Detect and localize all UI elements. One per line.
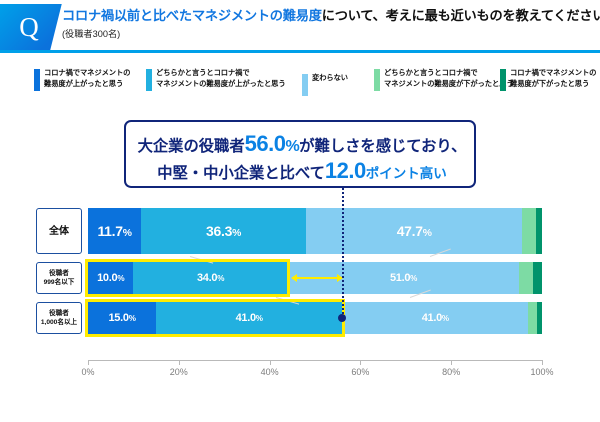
row-label-over-1000: 役職者 1,000名以上: [36, 302, 82, 334]
legend-item-0: コロナ禍でマネジメントの 難易度が上がったと思う: [34, 68, 144, 91]
x-axis-tick-label: 40%: [261, 367, 279, 377]
legend-swatch-icon: [302, 74, 308, 96]
bar-segment: 11.7%: [88, 208, 141, 254]
legend-item-2: 変わらない: [302, 73, 372, 96]
legend-swatch-icon: [500, 69, 506, 91]
page-subtitle: (役職者300名): [62, 27, 596, 41]
row-label-under-999: 役職者 999名以下: [36, 262, 82, 294]
callout-line-2: 中堅・中小企業と比べて12.0ポイント高い: [126, 158, 478, 184]
bar-segment-label: 15.0%: [108, 312, 135, 324]
x-axis-tick-label: 20%: [170, 367, 188, 377]
x-axis-tick-label: 100%: [530, 367, 553, 377]
legend-label: 変わらない: [312, 73, 348, 84]
callout-line1-pre: 大企業の役職者: [138, 138, 245, 155]
bar-segment: 41.0%: [156, 302, 342, 334]
bar-segment-label: 47.7%: [397, 223, 432, 239]
x-axis-tick: [542, 360, 543, 365]
bar-segment: 41.0%: [342, 302, 528, 334]
callout-value-56: 56.0%: [245, 131, 300, 156]
bar-segment: [528, 302, 537, 334]
row-label-text: 全体: [49, 227, 69, 236]
page-title: コロナ禍以前と比べたマネジメントの難易度について、考えに最も近いものを教えてくだ…: [62, 6, 596, 26]
callout-line2-unit: ポイント高い: [366, 166, 447, 181]
footer: EMPLOYMENT WITH TeamSpirit: [0, 392, 600, 422]
legend-item-4: コロナ禍でマネジメントの 難易度が下がったと思う: [500, 68, 600, 91]
callout-value-12: 12.0: [325, 158, 366, 183]
x-axis-tick: [360, 360, 361, 365]
survey-chart-page: Q コロナ禍以前と比べたマネジメントの難易度について、考えに最も近いものを教えて…: [0, 0, 600, 422]
legend-swatch-icon: [34, 69, 40, 91]
row-label-line1: 役職者: [44, 269, 75, 278]
bar-row-overall: 11.7% 36.3% 47.7%: [88, 208, 542, 254]
x-axis-tick: [179, 360, 180, 365]
bar-segment: 10.0%: [88, 262, 133, 294]
row-label-overall: 全体: [36, 208, 82, 254]
bar-segment-label: 36.3%: [206, 223, 241, 239]
bar-segment-label: 51.0%: [390, 272, 417, 284]
key-finding-callout: 大企業の役職者56.0%が難しさを感じており、 中堅・中小企業と比べて12.0ポ…: [124, 120, 476, 188]
marker-dotted-line: [342, 188, 344, 318]
row-label-line2: 999名以下: [44, 278, 75, 287]
x-axis-tick: [451, 360, 452, 365]
bar-segment: 34.0%: [133, 262, 287, 294]
callout-line1-post: が難しさを感じており、: [299, 138, 466, 155]
bar-segment-label: 34.0%: [197, 272, 224, 284]
legend-label: コロナ禍でマネジメントの 難易度が上がったと思う: [44, 68, 130, 89]
marker-dot-56: [338, 314, 346, 322]
legend-swatch-icon: [146, 69, 152, 91]
bar-segment: [519, 262, 533, 294]
bar-segment: 36.3%: [141, 208, 306, 254]
header-divider: [0, 50, 600, 53]
callout-line-1: 大企業の役職者56.0%が難しさを感じており、: [126, 131, 478, 157]
gap-arrow: [292, 277, 342, 279]
x-axis-tick: [88, 360, 89, 365]
x-axis-tick-label: 0%: [81, 367, 94, 377]
question-badge: Q: [14, 10, 44, 44]
row-label-line2: 1,000名以上: [41, 318, 77, 327]
bar-row-over-1000: 15.0% 41.0% 41.0%: [88, 302, 542, 334]
gap-marker-line: [287, 262, 288, 296]
legend-swatch-icon: [374, 69, 380, 91]
page-title-rest: について、考えに最も近いものを教えてください。: [322, 8, 600, 23]
callout-line2-pre: 中堅・中小企業と比べて: [157, 165, 325, 182]
bar-segment: [536, 208, 542, 254]
bar-segment: [522, 208, 536, 254]
bar-segment: 47.7%: [306, 208, 523, 254]
x-axis-tick-label: 60%: [351, 367, 369, 377]
x-axis-tick-label: 80%: [442, 367, 460, 377]
bar-segment-label: 10.0%: [97, 272, 124, 284]
x-axis-tick: [270, 360, 271, 365]
page-title-highlight: コロナ禍以前と比べたマネジメントの難易度: [62, 8, 322, 23]
stacked-bar-chart: 全体 役職者 999名以下 役職者 1,000名以上 11.7% 36.3% 4…: [0, 200, 600, 385]
bar-segment: 15.0%: [88, 302, 156, 334]
chart-legend: コロナ禍でマネジメントの 難易度が上がったと思う どちらかと言うとコロナ禍で マ…: [34, 68, 574, 100]
bar-segment-label: 11.7%: [97, 223, 131, 239]
bar-segment-label: 41.0%: [236, 312, 263, 324]
bar-segment: [537, 302, 542, 334]
legend-item-1: どちらかと言うとコロナ禍で マネジメントの難易度が上がったと思う: [146, 68, 296, 91]
page-header: Q コロナ禍以前と比べたマネジメントの難易度について、考えに最も近いものを教えて…: [0, 4, 600, 50]
bar-segment-label: 41.0%: [422, 312, 449, 324]
legend-label: どちらかと言うとコロナ禍で マネジメントの難易度が上がったと思う: [156, 68, 286, 89]
bar-segment: [533, 262, 542, 294]
x-axis-line: [88, 360, 542, 361]
legend-label: どちらかと言うとコロナ禍で マネジメントの難易度が下がったと思う: [384, 68, 514, 89]
header-text-group: コロナ禍以前と比べたマネジメントの難易度について、考えに最も近いものを教えてくだ…: [62, 6, 596, 41]
legend-label: コロナ禍でマネジメントの 難易度が下がったと思う: [510, 68, 596, 89]
row-label-line1: 役職者: [41, 309, 77, 318]
